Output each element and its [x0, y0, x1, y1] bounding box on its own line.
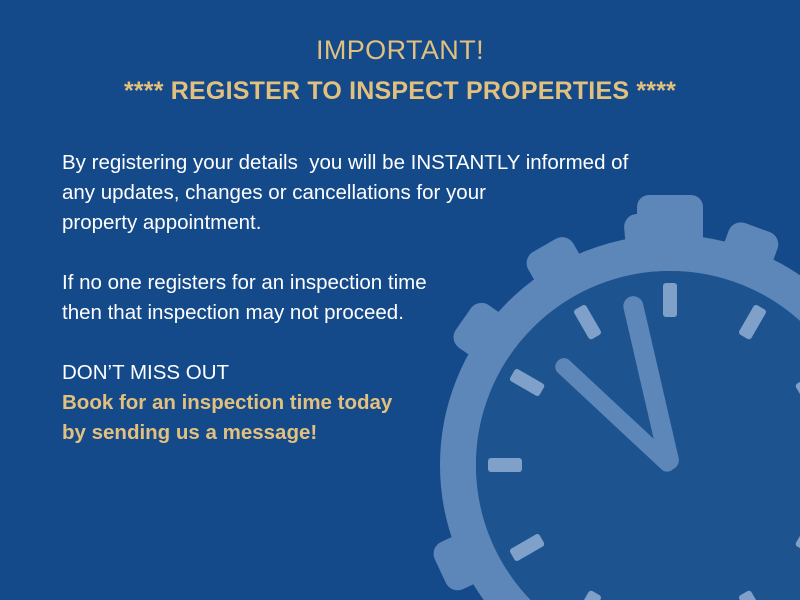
body-text-block: By registering your details you will be …	[62, 148, 742, 448]
body-line: then that inspection may not proceed.	[62, 298, 742, 328]
cta-line-send-message: by sending us a message!	[62, 418, 742, 448]
paragraph-spacer	[62, 328, 742, 358]
paragraph-registering-details: By registering your details you will be …	[62, 148, 742, 238]
body-line: any updates, changes or cancellations fo…	[62, 178, 742, 208]
body-line: property appointment.	[62, 208, 742, 238]
heading-important: IMPORTANT!	[0, 33, 800, 67]
heading-block: IMPORTANT! **** REGISTER TO INSPECT PROP…	[0, 0, 800, 107]
paragraph-call-to-action: Book for an inspection time today by sen…	[62, 388, 742, 448]
paragraph-no-registrations: If no one registers for an inspection ti…	[62, 268, 742, 328]
body-line: By registering your details you will be …	[62, 148, 742, 178]
heading-register-to-inspect-properties: **** REGISTER TO INSPECT PROPERTIES ****	[0, 75, 800, 107]
paragraph-dont-miss-out: DON’T MISS OUT	[62, 358, 742, 388]
body-line: If no one registers for an inspection ti…	[62, 268, 742, 298]
slide-canvas: IMPORTANT! **** REGISTER TO INSPECT PROP…	[0, 0, 800, 600]
cta-line-book-inspection: Book for an inspection time today	[62, 388, 742, 418]
paragraph-spacer	[62, 238, 742, 268]
body-line-dont-miss-out: DON’T MISS OUT	[62, 358, 742, 388]
